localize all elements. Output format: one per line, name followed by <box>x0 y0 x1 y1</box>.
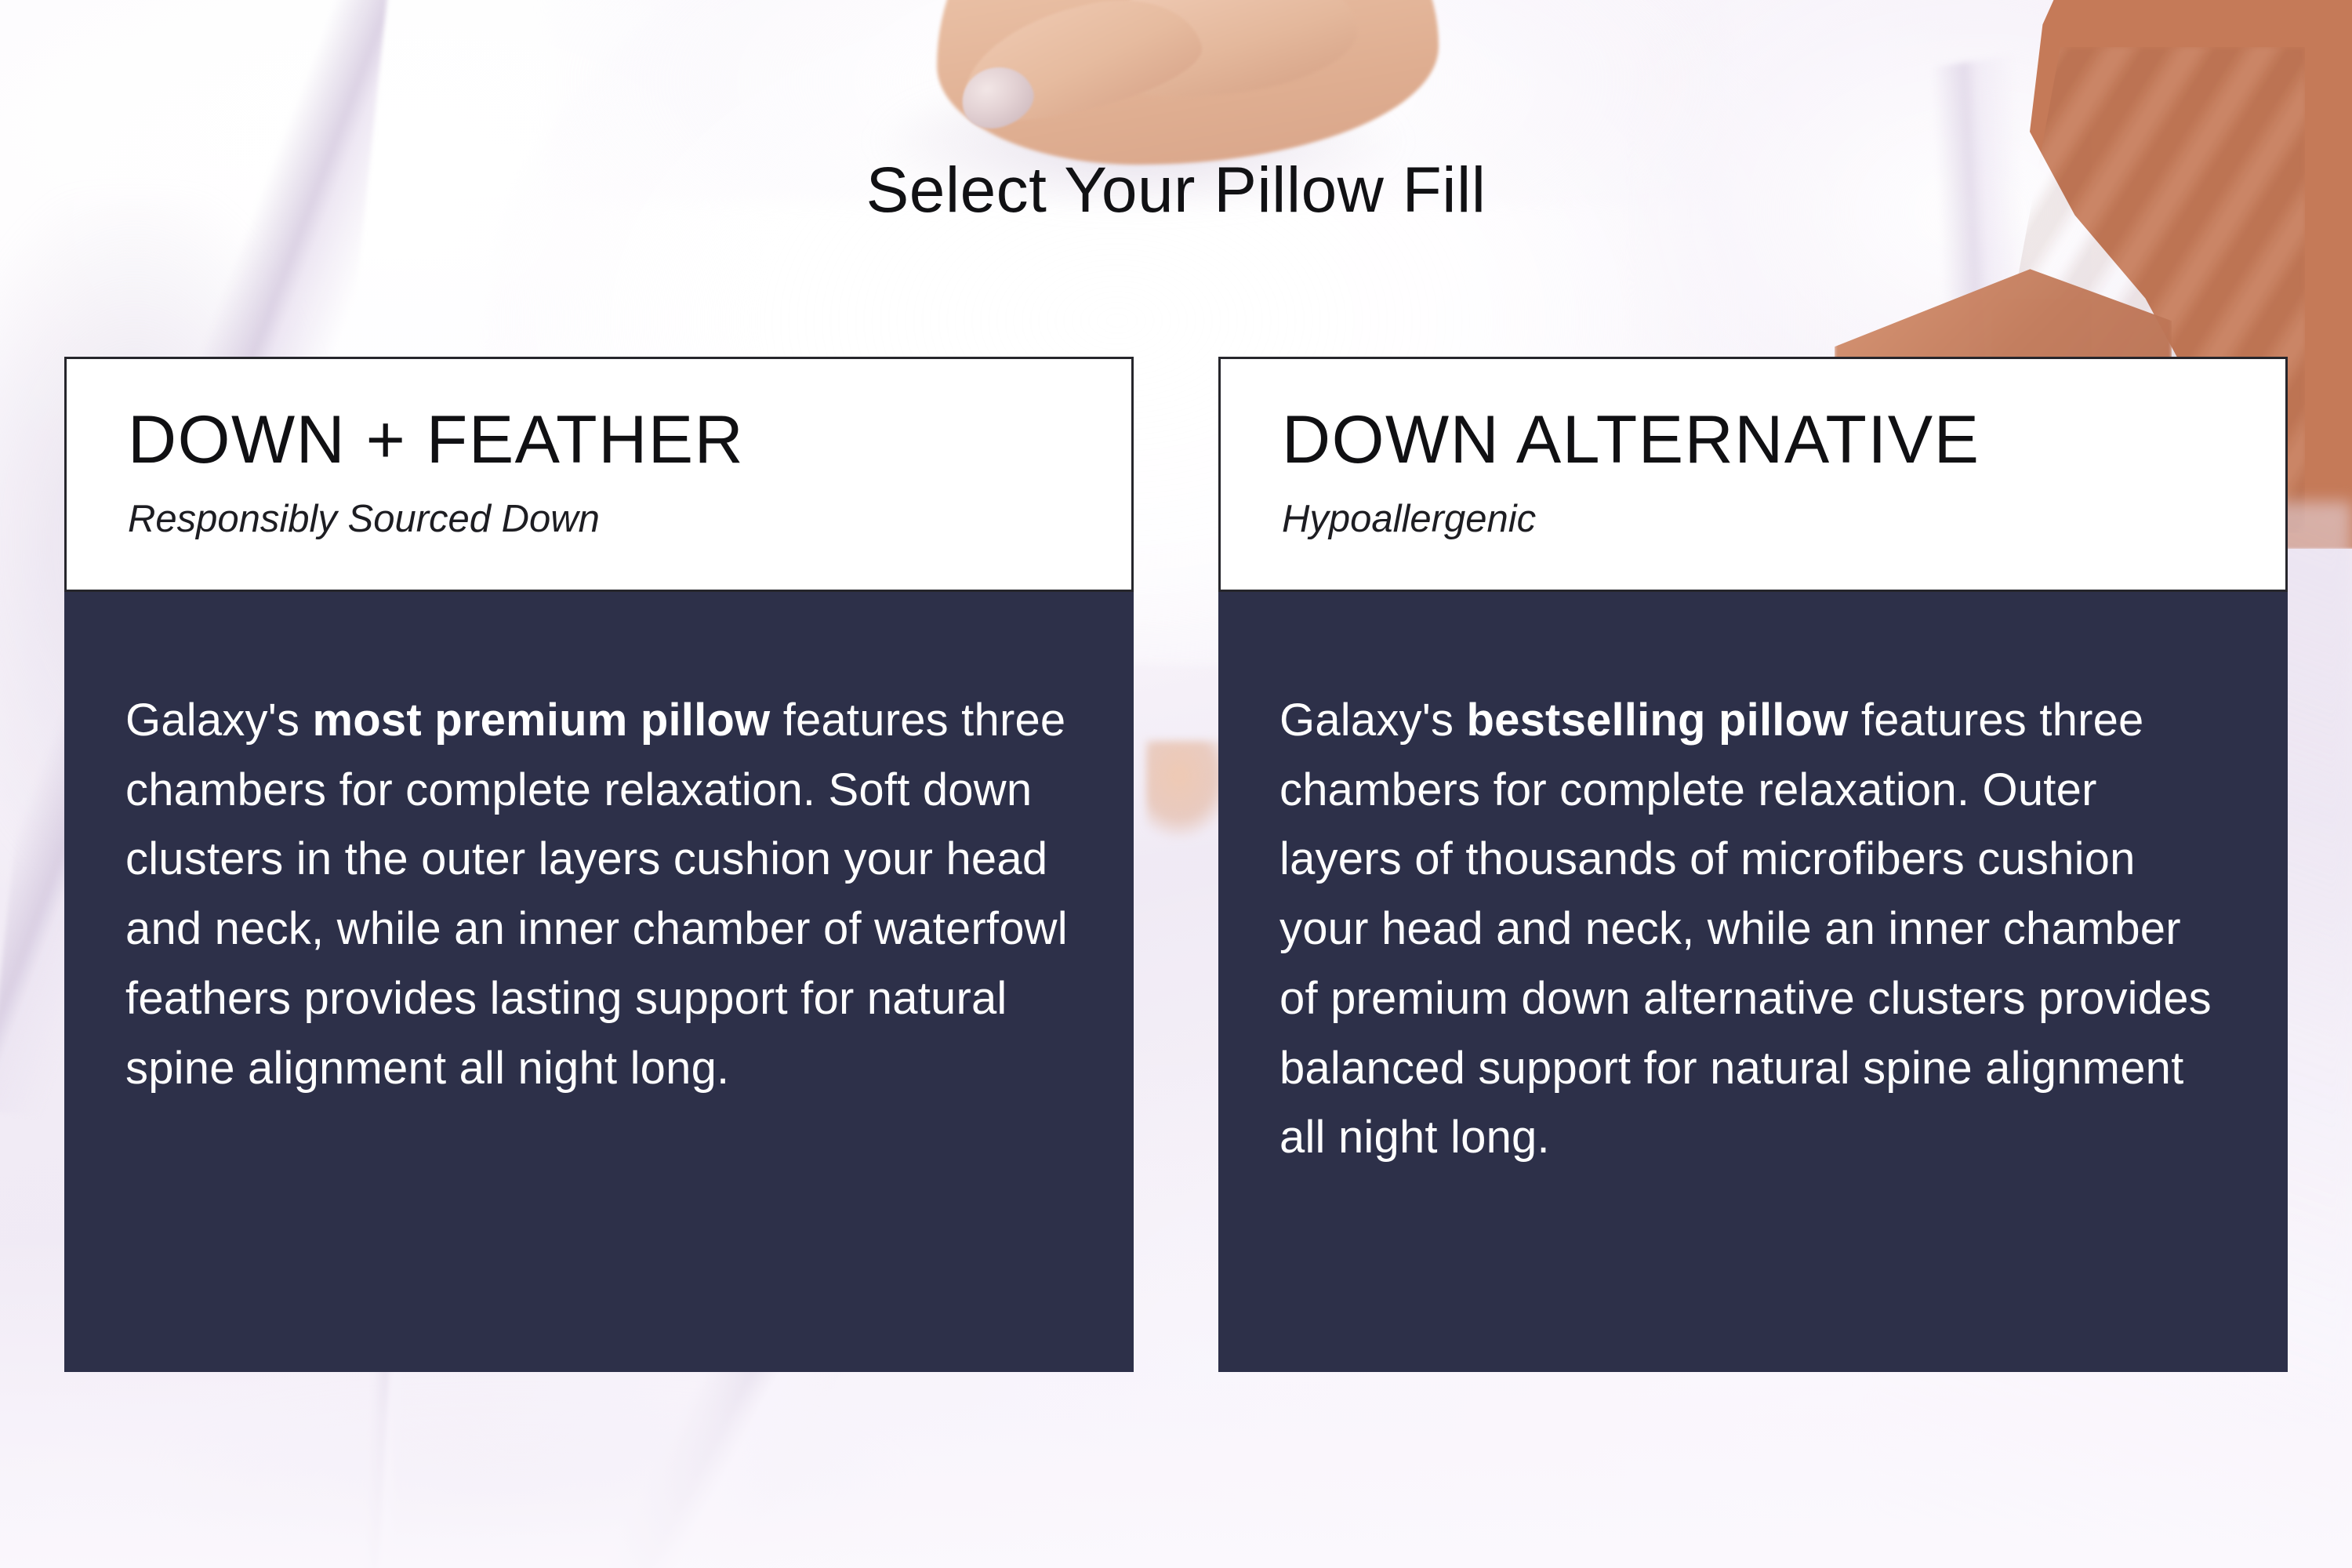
card-title: DOWN ALTERNATIVE <box>1282 406 2224 474</box>
card-description: Galaxy's most premium pillow features th… <box>125 686 1073 1103</box>
pillow-option-card-down-feather[interactable]: DOWN + FEATHER Responsibly Sourced Down … <box>64 357 1134 1372</box>
card-title: DOWN + FEATHER <box>128 406 1070 474</box>
card-body: Galaxy's most premium pillow features th… <box>64 592 1134 1372</box>
description-lead: Galaxy's <box>125 695 313 746</box>
pillow-fill-selector: Select Your Pillow Fill DOWN + FEATHER R… <box>0 0 2352 1568</box>
card-subtitle: Responsibly Sourced Down <box>128 500 1070 539</box>
description-rest: features three chambers for complete rel… <box>1279 695 2212 1163</box>
description-rest: features three chambers for complete rel… <box>125 695 1068 1094</box>
description-emphasis: most premium pillow <box>313 695 771 746</box>
card-subtitle: Hypoallergenic <box>1282 500 2224 539</box>
description-emphasis: bestselling pillow <box>1467 695 1849 746</box>
card-header: DOWN ALTERNATIVE Hypoallergenic <box>1218 357 2288 592</box>
card-body: Galaxy's bestselling pillow features thr… <box>1218 592 2288 1372</box>
card-description: Galaxy's bestselling pillow features thr… <box>1279 686 2227 1173</box>
pillow-option-card-down-alternative[interactable]: DOWN ALTERNATIVE Hypoallergenic Galaxy's… <box>1218 357 2288 1372</box>
page-title: Select Your Pillow Fill <box>0 154 2352 227</box>
card-header: DOWN + FEATHER Responsibly Sourced Down <box>64 357 1134 592</box>
description-lead: Galaxy's <box>1279 695 1467 746</box>
